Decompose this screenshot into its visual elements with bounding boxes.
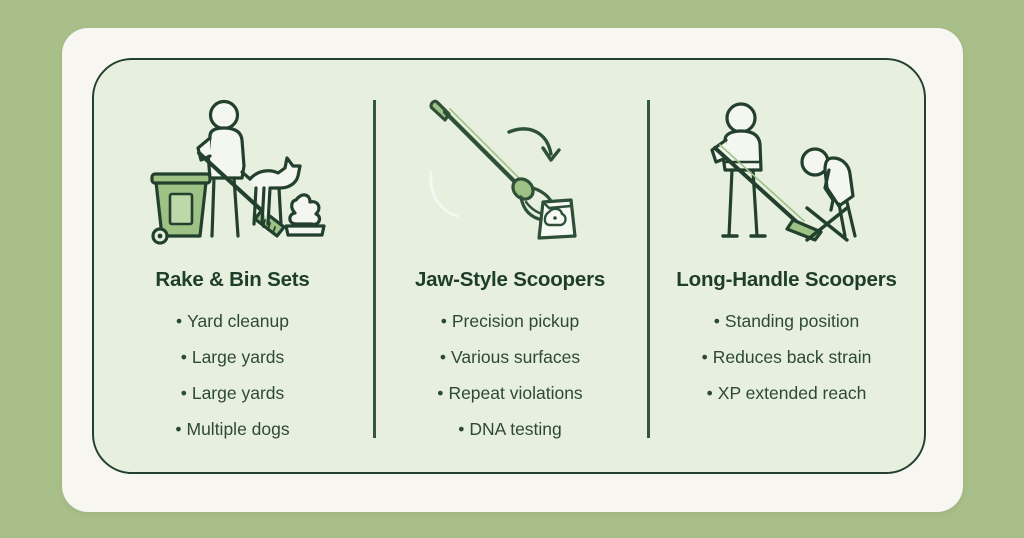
bullet-icon: • [714, 311, 720, 331]
bullet-icon: • [702, 347, 708, 367]
bullet-icon: • [181, 347, 187, 367]
list-item-label: Various surfaces [451, 347, 580, 367]
list-item-label: DNA testing [469, 419, 561, 439]
list-item: •XP extended reach [707, 376, 867, 411]
bullet-icon: • [175, 419, 181, 439]
bullet-icon: • [440, 347, 446, 367]
list-item: •Precision pickup [441, 304, 580, 339]
list-item-label: Large yards [192, 347, 284, 367]
feature-list: •Precision pickup •Various surfaces •Rep… [437, 304, 582, 447]
bullet-icon: • [441, 311, 447, 331]
list-item: •Large yards [181, 376, 285, 411]
person-with-rake-bin-dog-and-waste-icon [138, 96, 328, 246]
list-item-label: XP extended reach [718, 383, 867, 403]
comparison-columns: Rake & Bin Sets •Yard cleanup •Large yar… [92, 58, 926, 474]
column-jaw-style-scoopers: Jaw-Style Scoopers •Precision pickup •Va… [373, 58, 647, 474]
bullet-icon: • [437, 383, 443, 403]
list-item-label: Yard cleanup [187, 311, 289, 331]
list-item-label: Reduces back strain [713, 347, 872, 367]
bullet-icon: • [181, 383, 187, 403]
feature-list: •Yard cleanup •Large yards •Large yards … [175, 304, 289, 447]
list-item-label: Standing position [725, 311, 859, 331]
bullet-icon: • [176, 311, 182, 331]
column-title: Long-Handle Scoopers [676, 268, 896, 292]
list-item: •Large yards [181, 340, 285, 375]
list-item: •Reduces back strain [702, 340, 872, 375]
bullet-icon: • [707, 383, 713, 403]
list-item: •Various surfaces [440, 340, 580, 375]
column-title: Jaw-Style Scoopers [415, 268, 605, 292]
column-long-handle-scoopers: Long-Handle Scoopers •Standing position … [647, 58, 926, 474]
list-item-label: Repeat violations [448, 383, 582, 403]
list-item-label: Large yards [192, 383, 284, 403]
illustration-jaw-scooper [373, 96, 647, 246]
list-item: •DNA testing [458, 412, 562, 447]
list-item-label: Precision pickup [452, 311, 579, 331]
list-item: •Yard cleanup [176, 304, 289, 339]
jaw-style-scooper-with-bag-and-arrow-icon [423, 96, 598, 246]
illustration-long-handle-scooper [647, 96, 926, 246]
column-rake-and-bin-sets: Rake & Bin Sets •Yard cleanup •Large yar… [92, 58, 373, 474]
column-title: Rake & Bin Sets [155, 268, 309, 292]
list-item: •Multiple dogs [175, 412, 289, 447]
bullet-icon: • [458, 419, 464, 439]
list-item: •Standing position [714, 304, 859, 339]
feature-list: •Standing position •Reduces back strain … [702, 304, 872, 411]
list-item-label: Multiple dogs [187, 419, 290, 439]
list-item: •Repeat violations [437, 376, 582, 411]
illustration-rake-and-bin [92, 96, 373, 246]
standing-person-with-long-handle-scooper-and-crossed-out-bending-person-icon [687, 96, 887, 246]
